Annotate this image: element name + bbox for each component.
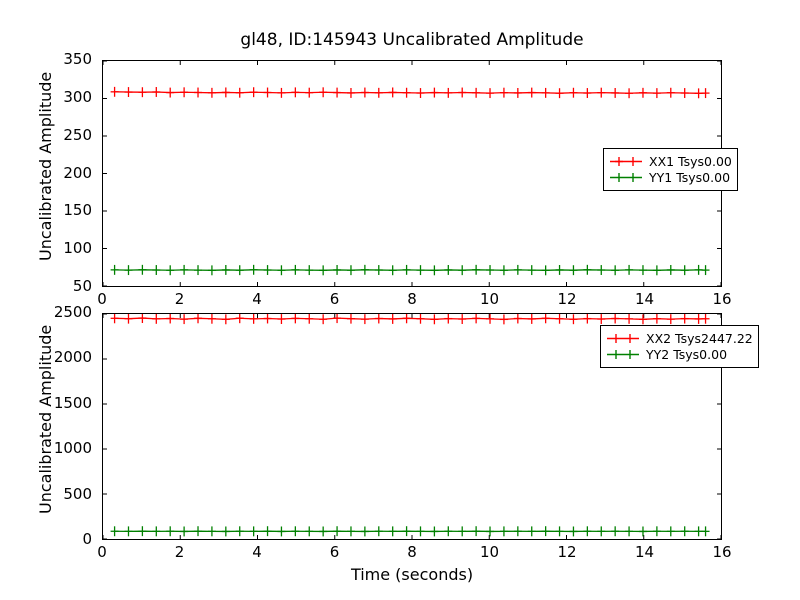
legend-label: YY2 Tsys0.00: [646, 348, 727, 361]
y-axis-label-top: Uncalibrated Amplitude: [36, 72, 55, 261]
x-tick-label: 4: [227, 545, 287, 560]
x-tick-label: 16: [692, 545, 752, 560]
x-axis-label: Time (seconds): [102, 565, 722, 584]
legend-marker-icon: [609, 155, 643, 168]
legend-label: XX1 Tsys0.00: [649, 155, 732, 168]
legend-marker-icon: [606, 332, 640, 345]
x-tick-label: 8: [382, 292, 442, 307]
x-tick-label: 10: [460, 292, 520, 307]
y-axis-label-bottom: Uncalibrated Amplitude: [36, 325, 55, 514]
legend-label: XX2 Tsys2447.22: [646, 332, 753, 345]
x-tick-label: 12: [537, 545, 597, 560]
legend-item: XX1 Tsys0.00: [609, 154, 732, 169]
legend-label: YY1 Tsys0.00: [649, 171, 730, 184]
x-tick-label: 14: [615, 292, 675, 307]
x-tick-label: 6: [305, 292, 365, 307]
x-tick-label: 2: [150, 545, 210, 560]
legend-item: YY2 Tsys0.00: [606, 347, 753, 362]
legend-item: XX2 Tsys2447.22: [606, 331, 753, 346]
y-tick-label: 350: [32, 52, 92, 67]
x-tick-label: 0: [72, 545, 132, 560]
x-tick-label: 2: [150, 292, 210, 307]
x-tick-label: 14: [615, 545, 675, 560]
y-tick-label: 2500: [32, 305, 92, 320]
x-tick-label: 12: [537, 292, 597, 307]
x-tick-label: 10: [460, 545, 520, 560]
legend-item: YY1 Tsys0.00: [609, 170, 732, 185]
legend-marker-icon: [609, 171, 643, 184]
x-tick-label: 4: [227, 292, 287, 307]
legend-bottom: XX2 Tsys2447.22 YY2 Tsys0.00: [600, 325, 759, 368]
figure-canvas: gl48, ID:145943 Uncalibrated Amplitude 5…: [0, 0, 800, 600]
legend-marker-icon: [606, 348, 640, 361]
legend-top: XX1 Tsys0.00 YY1 Tsys0.00: [603, 148, 738, 191]
page-title: gl48, ID:145943 Uncalibrated Amplitude: [102, 30, 722, 50]
x-tick-label: 8: [382, 545, 442, 560]
x-axis-ticks-bottom: 0246810121416: [102, 545, 722, 565]
x-tick-label: 6: [305, 545, 365, 560]
x-tick-label: 16: [692, 292, 752, 307]
x-axis-ticks-top: 0246810121416: [102, 292, 722, 312]
